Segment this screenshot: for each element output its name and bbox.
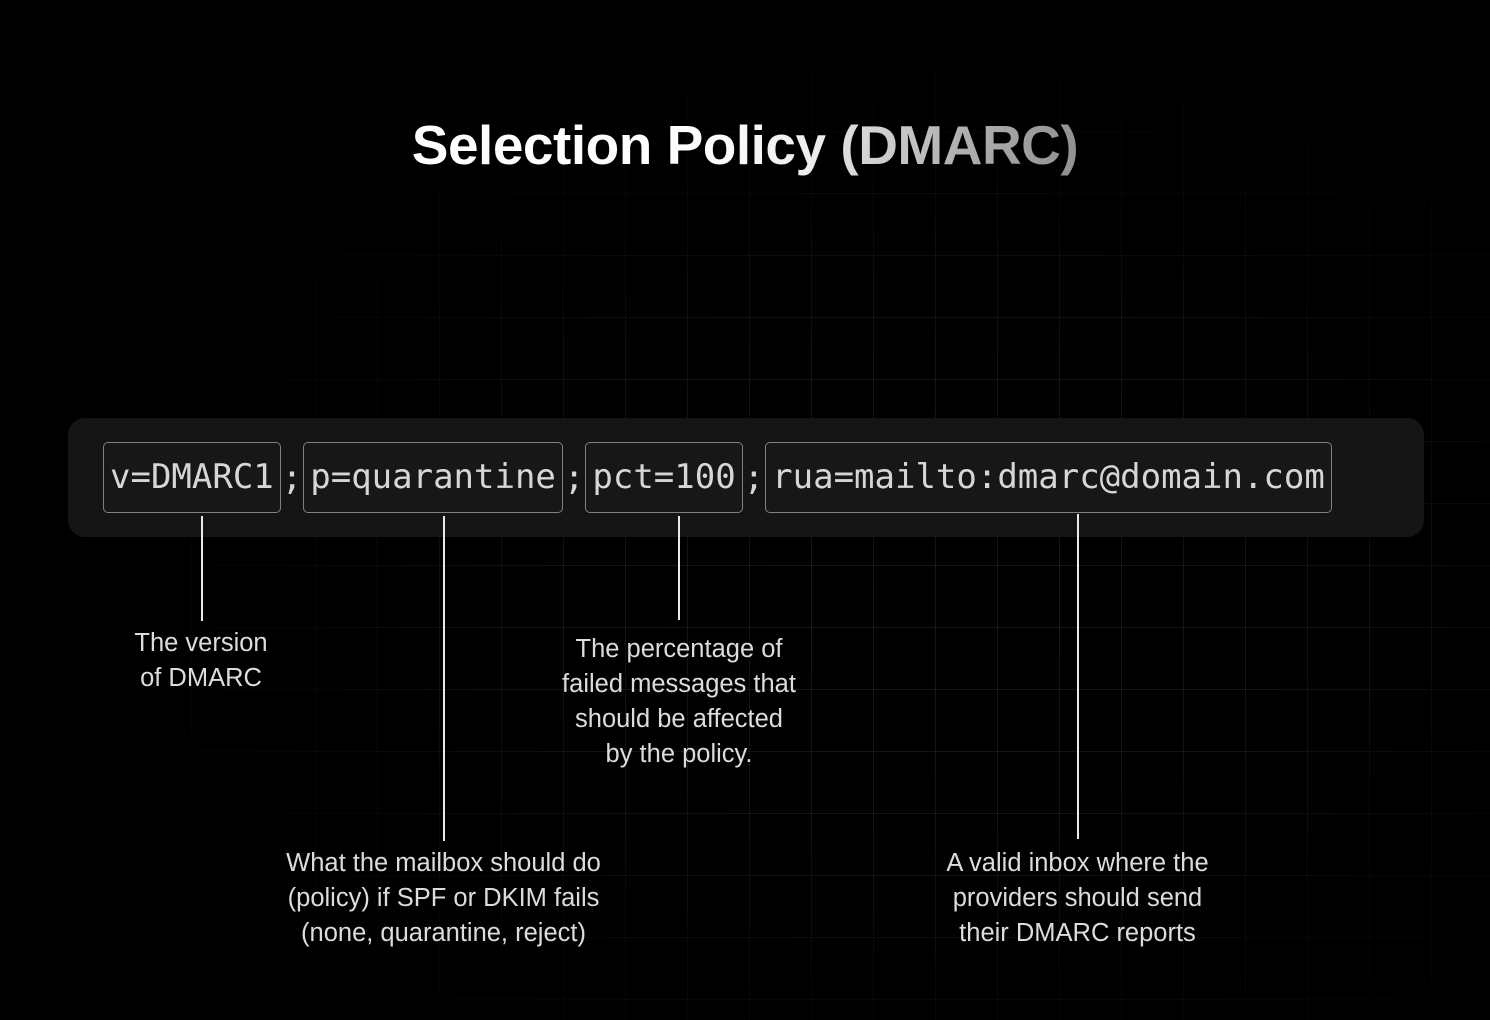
annotation-version: The version of DMARC [56, 626, 346, 696]
connector-line-percent [678, 516, 680, 620]
connector-line-policy [443, 516, 445, 841]
connector-line-rua [1077, 514, 1079, 839]
slide-canvas: Selection Policy (DMARC) v=DMARC1;p=quar… [0, 0, 1490, 1020]
annotation-policy: What the mailbox should do (policy) if S… [233, 846, 654, 951]
annotation-percent: The percentage of failed messages that s… [509, 632, 849, 772]
code-segment-rua[interactable]: rua=mailto:dmarc@domain.com [765, 442, 1332, 513]
code-separator-1: ; [281, 461, 303, 495]
annotation-rua: A valid inbox where the providers should… [885, 846, 1270, 951]
page-title-primary: Selection Policy [412, 114, 841, 176]
code-separator-2: ; [563, 461, 585, 495]
code-segment-version[interactable]: v=DMARC1 [103, 442, 281, 513]
page-title-accent: (DMARC) [840, 114, 1078, 176]
dmarc-record-line: v=DMARC1;p=quarantine;pct=100;rua=mailto… [103, 442, 1332, 513]
page-title: Selection Policy (DMARC) [0, 113, 1490, 177]
code-segment-policy[interactable]: p=quarantine [303, 442, 563, 513]
code-separator-3: ; [743, 461, 765, 495]
code-segment-percent[interactable]: pct=100 [585, 442, 742, 513]
dmarc-record-panel: v=DMARC1;p=quarantine;pct=100;rua=mailto… [68, 418, 1424, 537]
connector-line-version [201, 516, 203, 621]
